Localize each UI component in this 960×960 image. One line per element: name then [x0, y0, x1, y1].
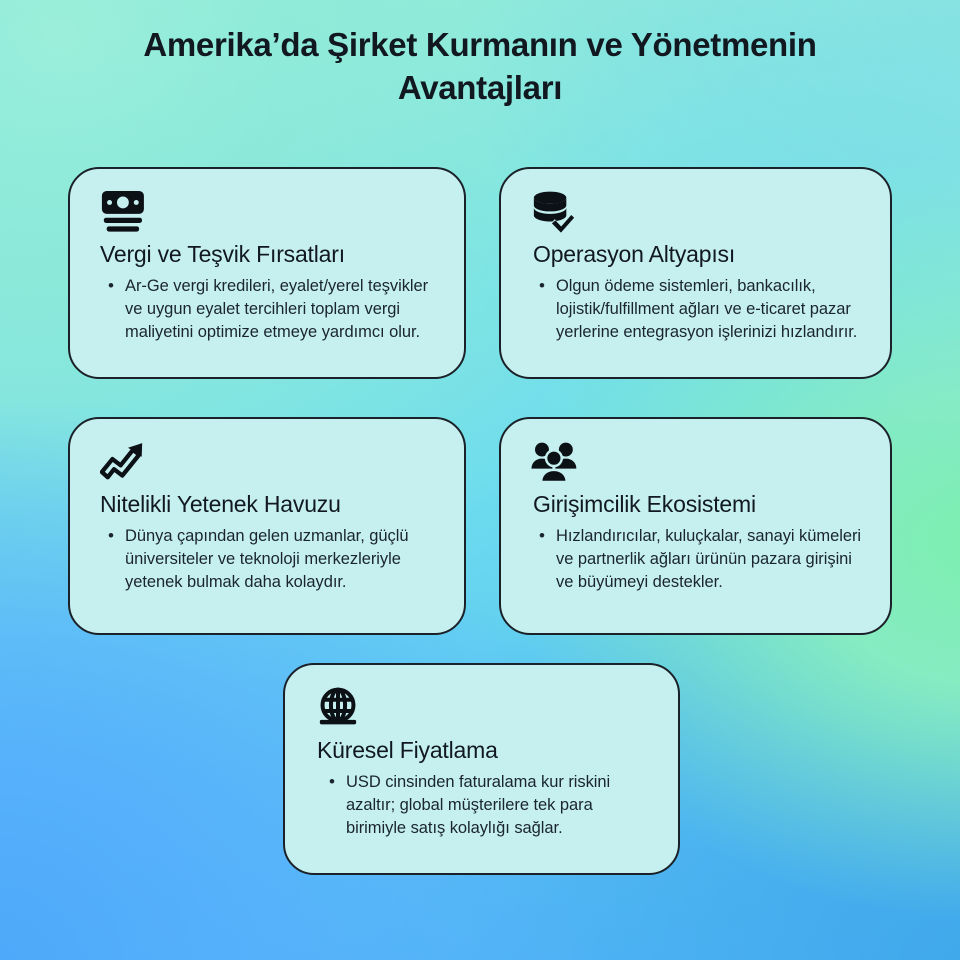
database-check-icon [531, 191, 864, 233]
card-title: Nitelikli Yetenek Havuzu [100, 491, 438, 519]
card-title: Küresel Fiyatlama [317, 737, 652, 765]
card-bullet: Ar-Ge vergi kredileri, eyalet/yerel teşv… [100, 275, 438, 345]
info-card-global-pricing: Küresel Fiyatlama USD cinsinden faturala… [283, 663, 680, 875]
cash-stack-icon [100, 191, 438, 233]
card-bullet: Olgun ödeme sistemleri, bankacılık, loji… [531, 275, 864, 345]
info-card-tax-incentives: Vergi ve Teşvik Fırsatları Ar-Ge vergi k… [68, 167, 466, 379]
info-card-operations-infrastructure: Operasyon Altyapısı Olgun ödeme sistemle… [499, 167, 892, 379]
page-title: Amerika’da Şirket Kurmanın ve Yönetmenin… [80, 24, 880, 110]
card-bullet-list: Hızlandırıcılar, kuluçkalar, sanayi küme… [531, 525, 864, 595]
card-bullet: USD cinsinden faturalama kur riskini aza… [317, 771, 652, 841]
card-title: Vergi ve Teşvik Fırsatları [100, 241, 438, 269]
card-bullet-list: Olgun ödeme sistemleri, bankacılık, loji… [531, 275, 864, 345]
trending-up-arrow-icon [100, 441, 438, 483]
card-bullet-list: Ar-Ge vergi kredileri, eyalet/yerel teşv… [100, 275, 438, 345]
card-bullet: Dünya çapından gelen uzmanlar, güçlü üni… [100, 525, 438, 595]
info-card-talent-pool: Nitelikli Yetenek Havuzu Dünya çapından … [68, 417, 466, 635]
globe-icon [317, 687, 652, 729]
card-title: Girişimcilik Ekosistemi [533, 491, 864, 519]
card-bullet-list: USD cinsinden faturalama kur riskini aza… [317, 771, 652, 841]
infographic-page: Amerika’da Şirket Kurmanın ve Yönetmenin… [0, 0, 960, 960]
card-title: Operasyon Altyapısı [533, 241, 864, 269]
people-group-icon [531, 441, 864, 483]
card-bullet-list: Dünya çapından gelen uzmanlar, güçlü üni… [100, 525, 438, 595]
info-card-entrepreneurship-ecosystem: Girişimcilik Ekosistemi Hızlandırıcılar,… [499, 417, 892, 635]
card-bullet: Hızlandırıcılar, kuluçkalar, sanayi küme… [531, 525, 864, 595]
